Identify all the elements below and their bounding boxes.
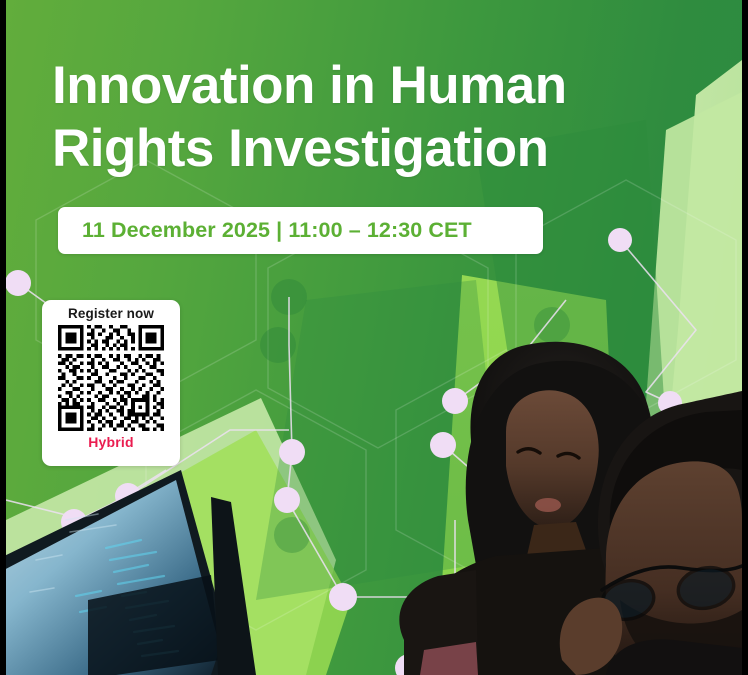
network-dot (442, 388, 468, 414)
poster-canvas: Innovation in Human Rights Investigation… (6, 0, 742, 675)
page-title: Innovation in Human Rights Investigation (52, 55, 672, 180)
network-dot (61, 509, 87, 535)
shadow-dot (534, 307, 570, 343)
hybrid-format-label: Hybrid (88, 434, 134, 450)
title-line-1: Innovation in Human (52, 55, 672, 118)
network-dot (608, 228, 632, 252)
title-line-2: Rights Investigation (52, 118, 672, 181)
webinar-poster: Innovation in Human Rights Investigation… (0, 0, 748, 675)
shadow-dot (274, 517, 310, 553)
register-now-label: Register now (68, 306, 154, 321)
qr-code-icon[interactable] (58, 325, 164, 431)
shadow-dot (260, 327, 296, 363)
registration-qr-card[interactable]: Register now (42, 300, 180, 466)
date-time-banner: 11 December 2025 | 11:00 – 12:30 CET (58, 207, 543, 254)
network-dot (279, 439, 305, 465)
network-dot (329, 583, 357, 611)
network-dot (115, 483, 141, 509)
network-dot (655, 415, 681, 441)
qr-code-svg (58, 325, 164, 431)
network-dot (430, 432, 456, 458)
network-dot (274, 487, 300, 513)
network-dot (658, 391, 682, 415)
network-dot (6, 270, 31, 296)
date-time-text: 11 December 2025 | 11:00 – 12:30 CET (58, 218, 472, 243)
